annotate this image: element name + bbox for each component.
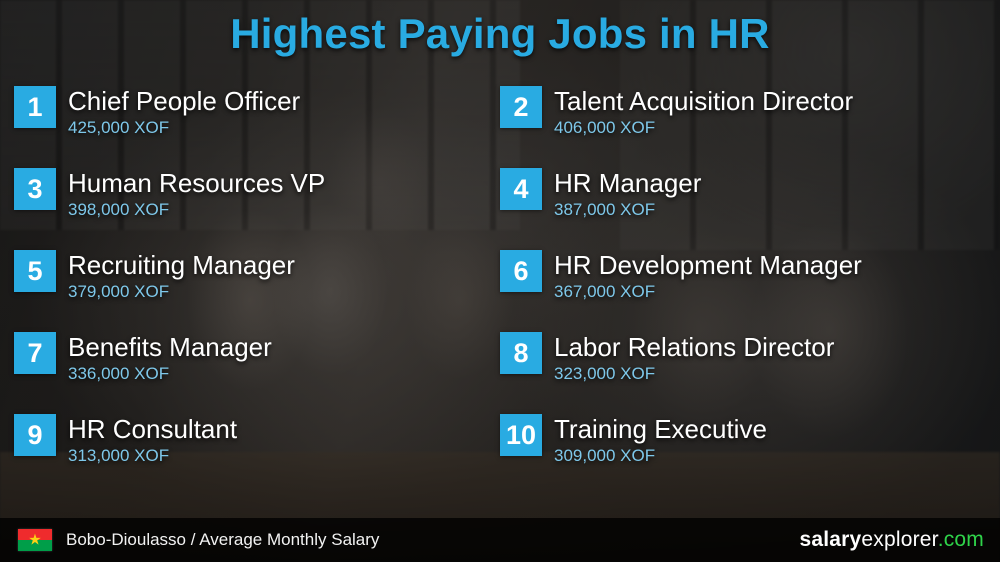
list-item: 6 HR Development Manager 367,000 XOF <box>500 248 986 330</box>
salary-value: 367,000 XOF <box>554 281 862 303</box>
location-label: Bobo-Dioulasso / Average Monthly Salary <box>66 530 379 550</box>
list-item-texts: Chief People Officer 425,000 XOF <box>68 86 300 139</box>
list-item: 3 Human Resources VP 398,000 XOF <box>14 166 500 248</box>
rank-badge: 8 <box>500 332 542 374</box>
job-title: Training Executive <box>554 414 767 444</box>
job-title: Benefits Manager <box>68 332 272 362</box>
list-item: 9 HR Consultant 313,000 XOF <box>14 412 500 494</box>
rank-badge: 7 <box>14 332 56 374</box>
list-item-texts: Labor Relations Director 323,000 XOF <box>554 332 834 385</box>
job-title: HR Consultant <box>68 414 237 444</box>
job-title: Labor Relations Director <box>554 332 834 362</box>
job-title: Chief People Officer <box>68 86 300 116</box>
list-item-texts: Talent Acquisition Director 406,000 XOF <box>554 86 853 139</box>
rank-badge: 4 <box>500 168 542 210</box>
list-item-texts: Human Resources VP 398,000 XOF <box>68 168 325 221</box>
list-item: 8 Labor Relations Director 323,000 XOF <box>500 330 986 412</box>
brand-part-explorer: explorer <box>861 528 937 551</box>
list-item-texts: HR Development Manager 367,000 XOF <box>554 250 862 303</box>
rank-badge: 3 <box>14 168 56 210</box>
list-item: 1 Chief People Officer 425,000 XOF <box>14 84 500 166</box>
brand-logo[interactable]: salaryexplorer.com <box>799 528 984 552</box>
rank-badge: 2 <box>500 86 542 128</box>
salary-value: 379,000 XOF <box>68 281 295 303</box>
job-title: HR Development Manager <box>554 250 862 280</box>
salary-value: 406,000 XOF <box>554 117 853 139</box>
list-item: 4 HR Manager 387,000 XOF <box>500 166 986 248</box>
page-title: Highest Paying Jobs in HR <box>0 10 1000 58</box>
list-item: 5 Recruiting Manager 379,000 XOF <box>14 248 500 330</box>
salary-value: 425,000 XOF <box>68 117 300 139</box>
burkina-faso-flag-icon: ★ <box>18 529 52 551</box>
salary-value: 398,000 XOF <box>68 199 325 221</box>
salary-value: 313,000 XOF <box>68 445 237 467</box>
salary-value: 387,000 XOF <box>554 199 701 221</box>
rank-badge: 9 <box>14 414 56 456</box>
list-item: 7 Benefits Manager 336,000 XOF <box>14 330 500 412</box>
rank-badge: 5 <box>14 250 56 292</box>
brand-part-salary: salary <box>799 528 861 551</box>
footer-bar: ★ Bobo-Dioulasso / Average Monthly Salar… <box>0 518 1000 562</box>
flag-star-icon: ★ <box>28 533 41 548</box>
job-title: Talent Acquisition Director <box>554 86 853 116</box>
list-item-texts: Training Executive 309,000 XOF <box>554 414 767 467</box>
salary-value: 323,000 XOF <box>554 363 834 385</box>
job-title: Recruiting Manager <box>68 250 295 280</box>
list-item: 2 Talent Acquisition Director 406,000 XO… <box>500 84 986 166</box>
infographic-canvas: Highest Paying Jobs in HR 1 Chief People… <box>0 0 1000 562</box>
job-title: HR Manager <box>554 168 701 198</box>
salary-value: 336,000 XOF <box>68 363 272 385</box>
list-item-texts: Recruiting Manager 379,000 XOF <box>68 250 295 303</box>
list-item: 10 Training Executive 309,000 XOF <box>500 412 986 494</box>
job-title: Human Resources VP <box>68 168 325 198</box>
list-item-texts: HR Manager 387,000 XOF <box>554 168 701 221</box>
salary-value: 309,000 XOF <box>554 445 767 467</box>
list-item-texts: HR Consultant 313,000 XOF <box>68 414 237 467</box>
rank-badge: 10 <box>500 414 542 456</box>
list-item-texts: Benefits Manager 336,000 XOF <box>68 332 272 385</box>
ranking-list: 1 Chief People Officer 425,000 XOF 2 Tal… <box>14 84 986 494</box>
brand-part-domain: .com <box>938 528 984 551</box>
rank-badge: 6 <box>500 250 542 292</box>
rank-badge: 1 <box>14 86 56 128</box>
